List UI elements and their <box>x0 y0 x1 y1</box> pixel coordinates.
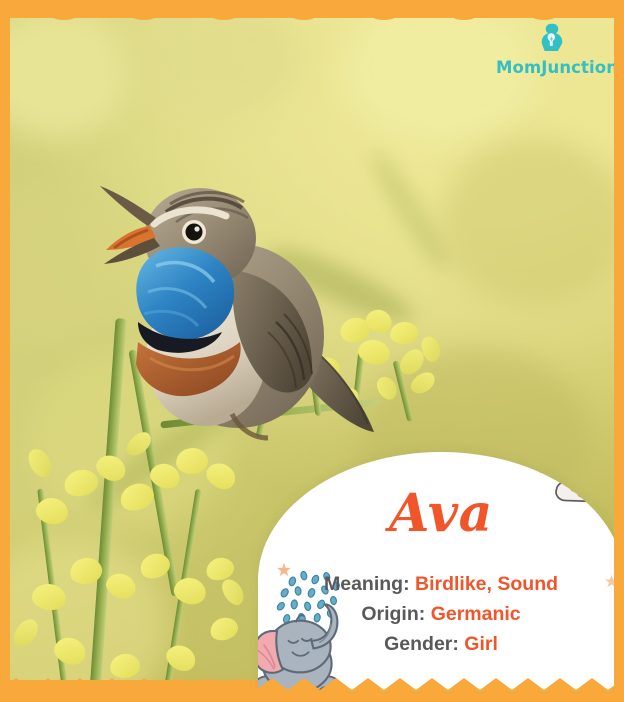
detail-row-origin: Origin: Germanic <box>258 600 624 630</box>
mother-and-child-icon <box>535 22 569 52</box>
flower-bud <box>217 575 248 608</box>
flower-petal <box>61 466 101 500</box>
frame-left-border <box>0 0 10 702</box>
meaning-label: Meaning: <box>324 573 410 595</box>
detail-row-gender: Gender: Girl <box>258 630 624 660</box>
flower-bud <box>10 615 42 651</box>
origin-value: Germanic <box>431 603 521 625</box>
flower-petal <box>31 582 68 611</box>
name-details: Meaning: Birdlike, Sound Origin: Germani… <box>258 570 624 659</box>
flower-petal <box>207 614 241 644</box>
brand-name: MomJunction <box>496 58 608 77</box>
gender-label: Gender: <box>384 633 459 655</box>
flower-bud <box>23 445 56 481</box>
momjunction-logo[interactable]: MomJunction <box>496 22 608 82</box>
baby-name: Ava <box>258 488 624 540</box>
detail-row-meaning: Meaning: Birdlike, Sound <box>258 570 624 600</box>
bluethroat-bird <box>98 146 398 446</box>
meaning-value: Birdlike, Sound <box>415 573 558 595</box>
name-info-card: Ava Meaning: Birdlike, Sound Origin: Ger… <box>258 452 624 702</box>
frame-bottom-zigzag <box>0 678 624 702</box>
flower-petal <box>175 446 210 475</box>
gender-value: Girl <box>464 633 498 655</box>
frame-right-border <box>614 0 624 702</box>
origin-label: Origin: <box>361 603 425 625</box>
star-icon <box>536 460 552 476</box>
flower-petal <box>108 652 142 680</box>
frame-top-scallop <box>0 0 624 20</box>
baby-name-card-page: Ava Meaning: Birdlike, Sound Origin: Ger… <box>0 0 624 702</box>
